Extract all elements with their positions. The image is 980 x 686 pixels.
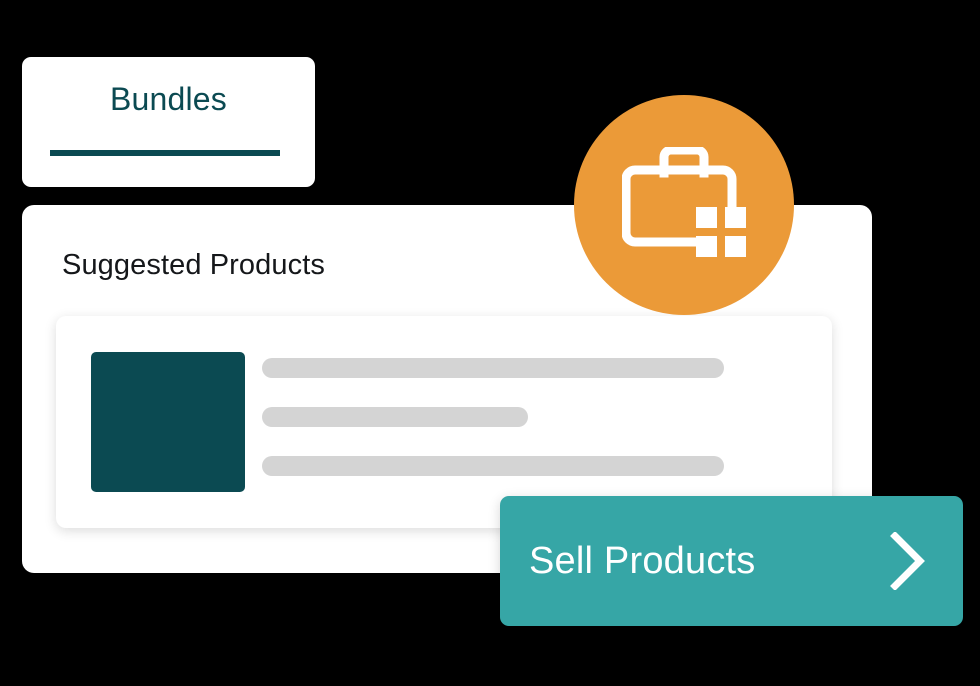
sell-products-button[interactable]: Sell Products (500, 496, 963, 626)
skeleton-line (262, 456, 724, 476)
skeleton-line (262, 358, 724, 378)
tab-bundles-label: Bundles (22, 79, 315, 119)
skeleton-spacer (262, 378, 724, 407)
sell-products-button-label: Sell Products (529, 496, 755, 626)
product-placeholder-text (262, 358, 724, 476)
chevron-right-icon (889, 496, 927, 626)
page-title: Suggested Products (62, 247, 325, 283)
briefcase-grid-icon (622, 147, 746, 263)
briefcase-badge (574, 95, 794, 315)
illustration-canvas: Bundles Suggested Products (0, 0, 980, 686)
tab-bundles[interactable]: Bundles (22, 57, 315, 187)
tab-active-indicator (50, 150, 280, 156)
skeleton-spacer (262, 427, 724, 456)
product-thumbnail (91, 352, 245, 492)
skeleton-line (262, 407, 528, 427)
